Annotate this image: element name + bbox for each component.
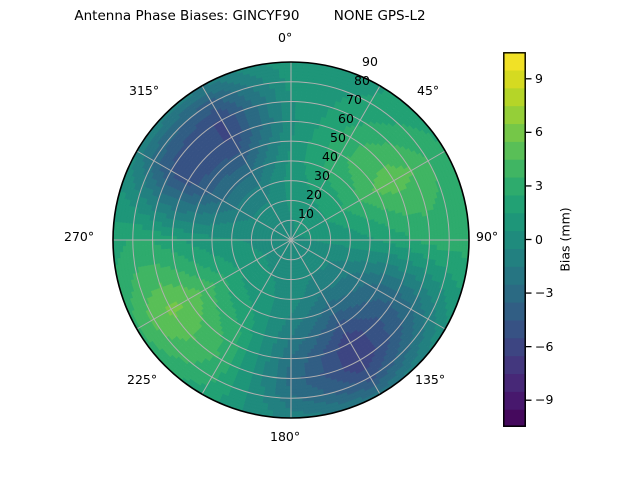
angular-tick-315: 315°	[129, 83, 159, 98]
colorbar-tick-0: −9	[535, 392, 553, 407]
radial-tick-20: 20	[306, 187, 322, 202]
colorbar-tick-1: −6	[535, 339, 553, 354]
angular-tick-90: 90°	[476, 229, 498, 244]
colorbar-tick-6: 9	[535, 71, 543, 86]
radial-tick-10: 10	[298, 206, 314, 221]
polar-contour-plot	[112, 61, 470, 419]
page-title: Antenna Phase Biases: GINCYF90 NONE GPS-…	[0, 8, 500, 24]
angular-tick-180: 180°	[270, 429, 300, 444]
angular-tick-45: 45°	[417, 83, 439, 98]
colorbar-tick-4: 3	[535, 178, 543, 193]
angular-tick-225: 225°	[127, 372, 157, 387]
radial-tick-40: 40	[322, 149, 338, 164]
radial-tick-60: 60	[338, 111, 354, 126]
radial-tick-90: 90	[362, 54, 378, 69]
angular-tick-270: 270°	[64, 229, 94, 244]
colorbar-axis-label: Bias (mm)	[556, 52, 574, 427]
radial-tick-80: 80	[354, 73, 370, 88]
colorbar: −9−6−30369	[503, 52, 526, 427]
radial-tick-50: 50	[330, 130, 346, 145]
colorbar-bands	[503, 52, 526, 427]
colorbar-tick-3: 0	[535, 232, 543, 247]
radial-tick-30: 30	[314, 168, 330, 183]
angular-tick-0: 0°	[278, 30, 292, 45]
colorbar-axis-label-text: Bias (mm)	[558, 207, 573, 271]
colorbar-tick-2: −3	[535, 285, 553, 300]
polar-axes: 0° 45° 90° 135° 180° 225° 270° 315° 10 2…	[112, 61, 470, 419]
figure-canvas: Antenna Phase Biases: GINCYF90 NONE GPS-…	[0, 0, 640, 480]
radial-tick-70: 70	[346, 92, 362, 107]
colorbar-gradient	[503, 52, 526, 427]
angular-tick-135: 135°	[415, 372, 445, 387]
colorbar-tick-5: 6	[535, 124, 543, 139]
